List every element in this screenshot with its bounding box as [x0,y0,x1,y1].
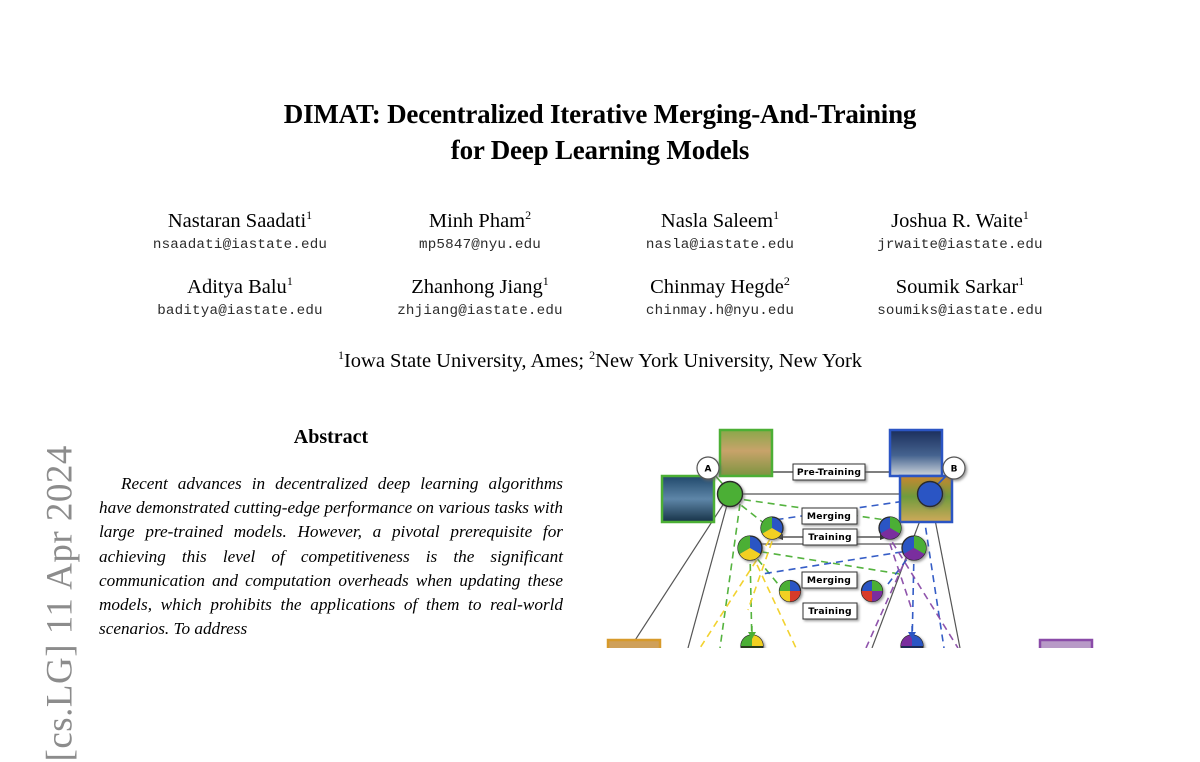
author-entry: Minh Pham2 mp5847@nyu.edu [360,208,600,256]
model-node-b-pure [918,482,943,507]
model-node-mix-6 [862,581,883,602]
author-name-text: Soumik Sarkar [896,276,1018,298]
stage-label-pre-training: Pre-Training [797,467,861,478]
author-affil-mark: 1 [773,208,779,222]
thumbnail-car [890,430,942,476]
author-entry: Chinmay Hegde2 chinmay.h@nyu.edu [600,274,840,322]
author-entry: Soumik Sarkar1 soumiks@iastate.edu [840,274,1080,322]
node-b-label: B [951,465,958,475]
author-affil-mark: 2 [525,208,531,222]
abstract-body: Recent advances in decentralized deep le… [99,472,563,641]
author-row: Nastaran Saadati1 nsaadati@iastate.edu M… [120,208,1080,256]
node-a-label: A [705,465,712,475]
stage-label-training-1: Training [808,532,852,543]
model-node-mix-2 [879,517,901,539]
author-name: Soumik Sarkar1 [840,274,1080,300]
stage-label-merging-2: Merging [807,575,851,586]
stage-label-merging-1: Merging [807,511,851,522]
stage-label-training-2: Training [808,606,852,617]
author-name: Nasla Saleem1 [600,208,840,234]
model-node-mix-4 [902,536,926,560]
arxiv-stamp: [cs.LG] 11 Apr 2024 [0,0,80,648]
thumbnail-dog [720,430,772,476]
author-email[interactable]: nsaadati@iastate.edu [120,234,360,256]
author-email[interactable]: nasla@iastate.edu [600,234,840,256]
abstract-heading: Abstract [99,424,563,450]
author-name: Zhanhong Jiang1 [360,274,600,300]
author-name: Aditya Balu1 [120,274,360,300]
author-affil-mark: 1 [1023,208,1029,222]
model-node-mix-3 [738,536,762,560]
arxiv-stamp-text: [cs.LG] 11 Apr 2024 [39,142,82,762]
author-entry: Zhanhong Jiang1 zhjiang@iastate.edu [360,274,600,322]
author-entry: Joshua R. Waite1 jrwaite@iastate.edu [840,208,1080,256]
figure-bottom-arrows [748,626,916,639]
author-name-text: Nasla Saleem [661,210,773,232]
model-node-a-pure [718,482,743,507]
author-name-text: Zhanhong Jiang [411,276,543,298]
author-name-text: Joshua R. Waite [891,210,1023,232]
author-name: Joshua R. Waite1 [840,208,1080,234]
model-node-mix-5 [780,581,801,602]
author-name-text: Chinmay Hegde [650,276,784,298]
model-node-mix-1 [761,517,783,539]
author-email[interactable]: zhjiang@iastate.edu [360,300,600,322]
author-email[interactable]: baditya@iastate.edu [120,300,360,322]
author-affil-mark: 1 [543,274,549,288]
thumbnail-plane [662,476,714,522]
affiliation-line: 1Iowa State University, Ames; 2New York … [120,348,1080,374]
author-affil-mark: 1 [287,274,293,288]
author-email[interactable]: mp5847@nyu.edu [360,234,600,256]
author-affil-mark: 2 [784,274,790,288]
author-name: Minh Pham2 [360,208,600,234]
author-entry: Nasla Saleem1 nasla@iastate.edu [600,208,840,256]
thumbnail-bottom-right [1040,640,1092,648]
author-block: Nastaran Saadati1 nsaadati@iastate.edu M… [120,208,1080,322]
title-line-2: for Deep Learning Models [180,132,1020,168]
author-affil-mark: 1 [1018,274,1024,288]
affil-text-2: New York University, New York [595,350,862,372]
affil-text-1: Iowa State University, Ames; [344,350,589,372]
stage-merging-2: Merging [802,572,857,588]
title-line-1: DIMAT: Decentralized Iterative Merging-A… [180,96,1020,132]
thumbnail-bottom-left [608,640,660,648]
author-name-text: Nastaran Saadati [168,210,306,232]
author-entry: Nastaran Saadati1 nsaadati@iastate.edu [120,208,360,256]
paper-page: [cs.LG] 11 Apr 2024 DIMAT: Decentralized… [0,0,1200,648]
stage-merging-1: Merging [802,508,857,524]
author-entry: Aditya Balu1 baditya@iastate.edu [120,274,360,322]
abstract-column: Abstract Recent advances in decentralize… [99,424,563,641]
author-name-text: Aditya Balu [187,276,287,298]
page-title: DIMAT: Decentralized Iterative Merging-A… [180,96,1020,168]
author-affil-mark: 1 [306,208,312,222]
stage-training-1: Training [775,529,888,545]
author-name: Nastaran Saadati1 [120,208,360,234]
author-email[interactable]: soumiks@iastate.edu [840,300,1080,322]
author-name-text: Minh Pham [429,210,525,232]
stage-training-2: Training [803,603,857,619]
author-email[interactable]: jrwaite@iastate.edu [840,234,1080,256]
author-row: Aditya Balu1 baditya@iastate.edu Zhanhon… [120,274,1080,322]
teaser-figure: Pre-Training Merging Training [600,424,1200,648]
author-email[interactable]: chinmay.h@nyu.edu [600,300,840,322]
author-name: Chinmay Hegde2 [600,274,840,300]
